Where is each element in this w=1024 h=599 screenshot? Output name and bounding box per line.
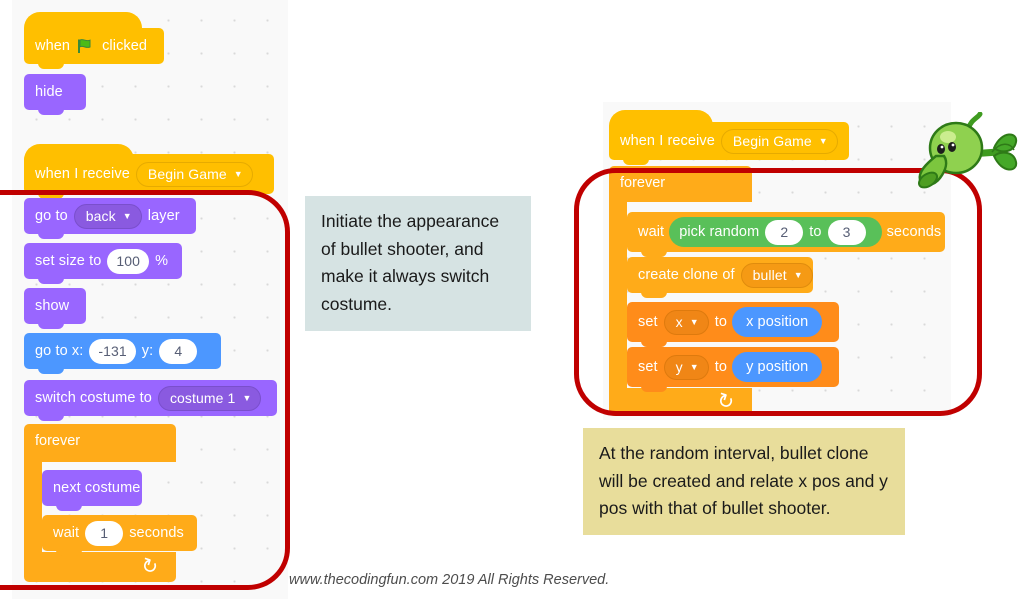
dropdown-value: Begin Game: [148, 167, 227, 181]
hide-label: hide: [35, 84, 63, 100]
tutorial-screenshot: when clicked hide when I receive Begin G…: [0, 0, 1024, 599]
note-yellow: At the random interval, bullet clone wil…: [583, 428, 905, 535]
block-when-flag-clicked[interactable]: when clicked: [24, 28, 164, 64]
annotation-outline-left: [0, 190, 290, 590]
dropdown-message-left[interactable]: Begin Game ▼: [136, 162, 253, 187]
block-hide[interactable]: hide: [24, 74, 86, 110]
when-receive-label-right: when I receive: [620, 133, 715, 149]
chevron-down-icon: ▼: [234, 170, 243, 179]
when-receive-label-left: when I receive: [35, 166, 130, 182]
block-when-i-receive-right[interactable]: when I receive Begin Game ▼: [609, 122, 849, 160]
peashooter-sprite: [906, 112, 1018, 198]
block-when-i-receive-left[interactable]: when I receive Begin Game ▼: [24, 154, 274, 194]
when-flag-post-label: clicked: [102, 38, 147, 54]
chevron-down-icon: ▼: [819, 137, 828, 146]
dropdown-message-right[interactable]: Begin Game ▼: [721, 129, 838, 154]
annotation-outline-right: [574, 168, 982, 416]
when-flag-pre-label: when: [35, 38, 70, 54]
green-flag-icon: [77, 38, 95, 54]
footer-copyright: www.thecodingfun.com 2019 All Rights Res…: [289, 572, 609, 588]
dropdown-value: Begin Game: [733, 134, 812, 148]
note-blue: Initiate the appearance of bullet shoote…: [305, 196, 531, 331]
